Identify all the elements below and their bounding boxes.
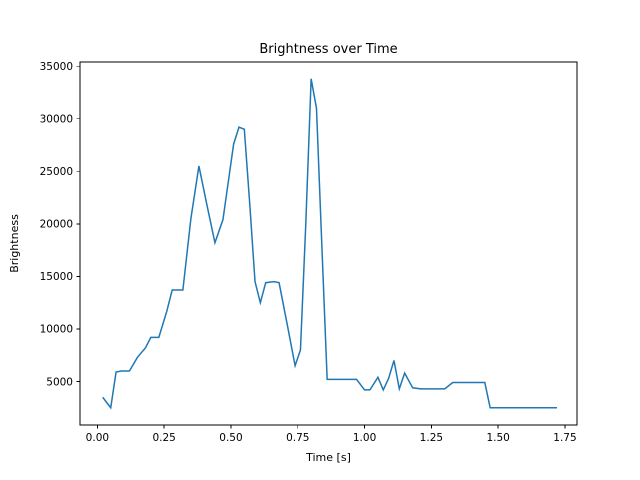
figure-canvas: 0.000.250.500.751.001.251.501.7550001000… bbox=[0, 0, 640, 480]
y-tick-label: 15000 bbox=[40, 271, 73, 283]
y-tick-label: 20000 bbox=[40, 219, 73, 231]
y-axis-label: Brightness bbox=[8, 214, 21, 273]
x-tick-label: 0.25 bbox=[152, 432, 175, 444]
y-tick-label: 35000 bbox=[40, 61, 73, 73]
axes-frame bbox=[80, 62, 577, 425]
x-axis-label: Time [s] bbox=[305, 451, 351, 464]
x-tick-label: 0.75 bbox=[286, 432, 309, 444]
y-tick-label: 30000 bbox=[40, 114, 73, 126]
data-series-line bbox=[103, 79, 557, 408]
x-tick-label: 1.50 bbox=[486, 432, 509, 444]
x-tick-label: 0.00 bbox=[86, 432, 109, 444]
plot-area: 0.000.250.500.751.001.251.501.7550001000… bbox=[8, 42, 577, 464]
y-tick-label: 5000 bbox=[46, 376, 73, 388]
brightness-line-chart: 0.000.250.500.751.001.251.501.7550001000… bbox=[0, 0, 640, 480]
x-tick-label: 1.00 bbox=[353, 432, 376, 444]
x-tick-label: 0.50 bbox=[219, 432, 242, 444]
y-tick-label: 25000 bbox=[40, 166, 73, 178]
x-tick-label: 1.25 bbox=[420, 432, 443, 444]
y-tick-label: 10000 bbox=[40, 324, 73, 336]
x-tick-label: 1.75 bbox=[553, 432, 576, 444]
chart-title: Brightness over Time bbox=[259, 42, 397, 57]
